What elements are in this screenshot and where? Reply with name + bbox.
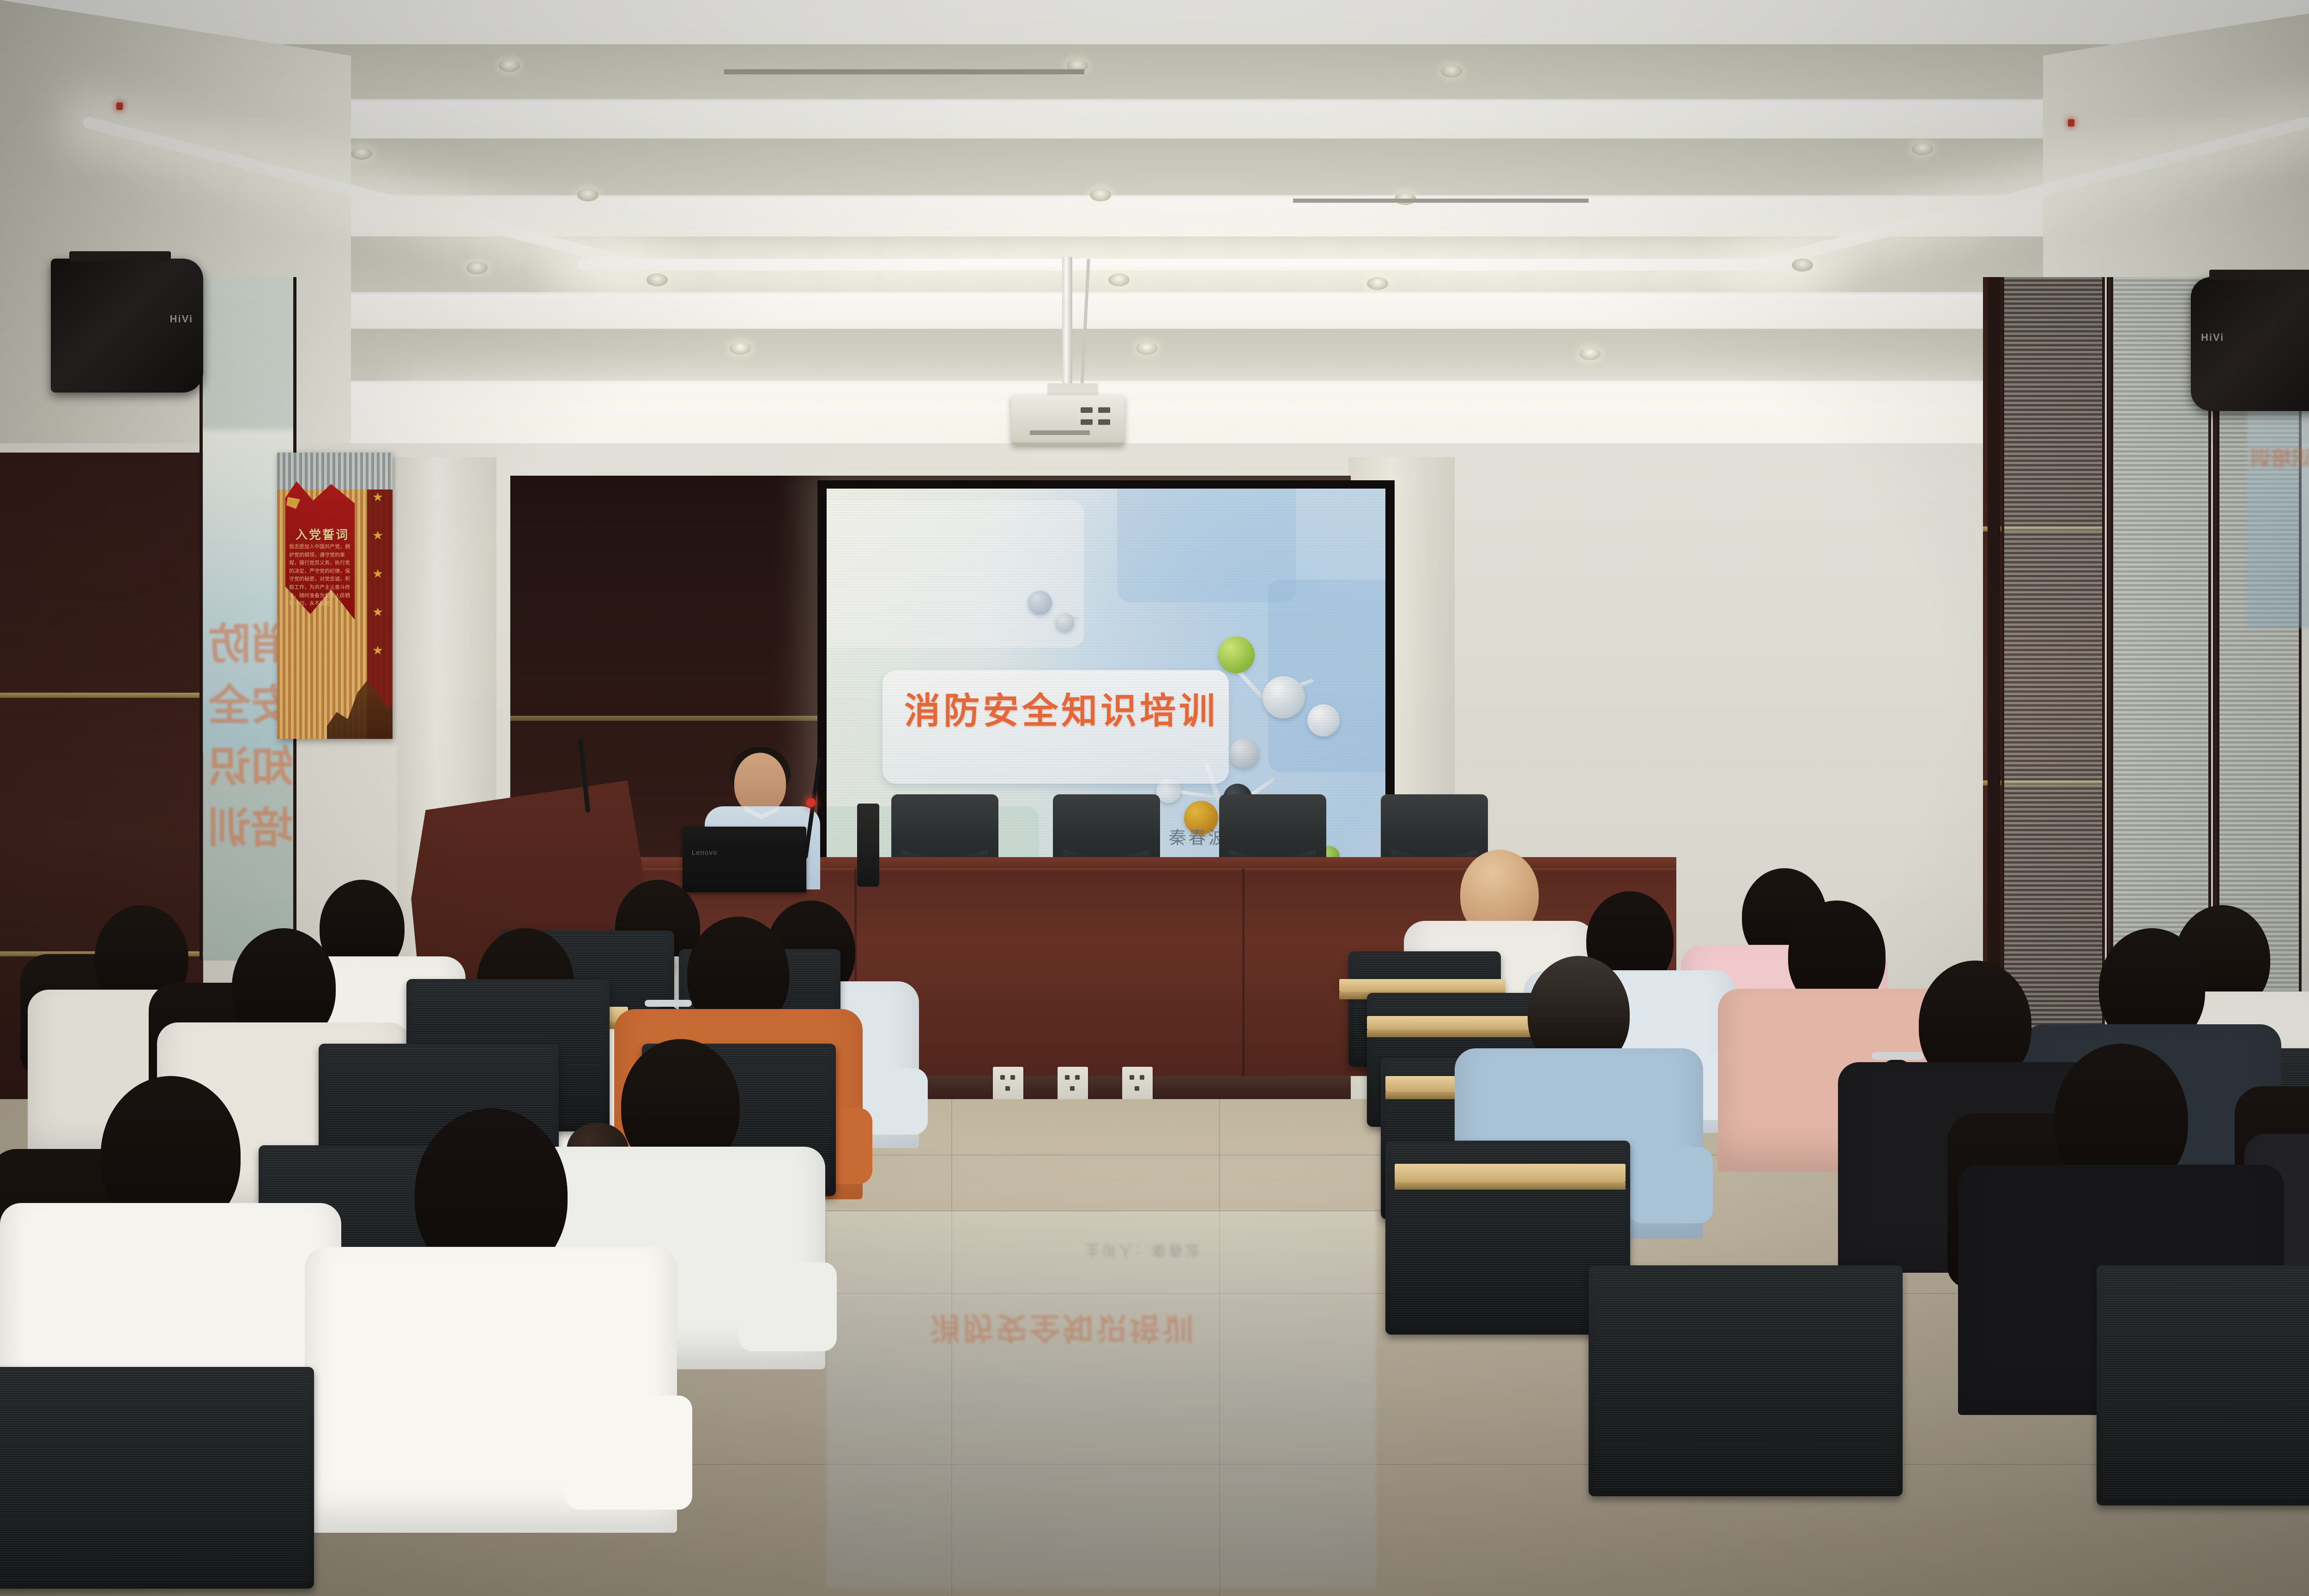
ceiling-projector bbox=[1011, 395, 1124, 445]
power-outlet[interactable] bbox=[993, 1067, 1023, 1101]
floor-reflected-title: 消防安全知识培训 bbox=[898, 1308, 1228, 1353]
smoke-detector-indicator-left bbox=[116, 103, 123, 110]
wall-speaker-left: HiVi bbox=[51, 259, 203, 393]
gold-stars bbox=[369, 492, 387, 691]
conference-room-photo: 消防安全知识培训 入党誓词 我志愿加入中国共产党，拥护党的纲领，遵守党的章程，履… bbox=[0, 0, 2309, 1596]
audience-left-3-arm bbox=[738, 1262, 837, 1351]
downlight-6 bbox=[1108, 273, 1130, 286]
reflected-slide-title: 消防安全知识培训 bbox=[2251, 441, 2309, 471]
poster-body-text: 我志愿加入中国共产党，拥护党的纲领，遵守党的章程，履行党员义务，执行党的决定，严… bbox=[289, 543, 355, 608]
downlight-15 bbox=[351, 147, 372, 160]
molecule-atom-2 bbox=[1263, 676, 1305, 719]
downlight-13 bbox=[1912, 142, 1933, 155]
audience-right-3-arm bbox=[1628, 1147, 1713, 1223]
ceiling bbox=[0, 0, 2309, 466]
microphone-indicator-light bbox=[806, 798, 816, 807]
hvac-diffuser-2 bbox=[1293, 199, 1589, 203]
downlight-4 bbox=[1090, 188, 1111, 201]
downlight-14 bbox=[1792, 259, 1813, 272]
network-jack[interactable] bbox=[1058, 1067, 1088, 1101]
speaker-brand-label-right: HiVi bbox=[2201, 332, 2224, 344]
smoke-detector-indicator-right bbox=[2068, 119, 2074, 127]
wall-speaker-right: HiVi bbox=[2191, 277, 2309, 411]
poster-title: 入党誓词 bbox=[296, 526, 356, 543]
cove-light-front bbox=[416, 406, 1977, 418]
molecule-atom-1 bbox=[1218, 636, 1255, 673]
downlight-1 bbox=[499, 59, 520, 72]
audience-right-6-hair-tie bbox=[1872, 1052, 1923, 1060]
av-jack[interactable] bbox=[1122, 1067, 1153, 1101]
desk-right-4[interactable] bbox=[1395, 1164, 1626, 1182]
hvac-diffuser-1 bbox=[724, 69, 1084, 74]
audience-left-2 bbox=[305, 1108, 677, 1567]
presenter-head bbox=[734, 753, 786, 814]
chair-left-1[interactable] bbox=[0, 1367, 314, 1589]
party-oath-poster: 入党誓词 我志愿加入中国共产党，拥护党的纲领，遵守党的章程，履行党员义务，执行党… bbox=[277, 453, 393, 739]
slide-title: 消防安全知识培训 bbox=[899, 693, 1223, 729]
downlight-16 bbox=[466, 261, 488, 274]
molecule-atom-18 bbox=[1028, 591, 1052, 615]
laptop-brand-label: Lenovo bbox=[692, 849, 717, 857]
downlight-9 bbox=[1441, 65, 1462, 78]
downlight-12 bbox=[1579, 347, 1601, 360]
water-bottle bbox=[857, 804, 879, 887]
chair-right-7[interactable] bbox=[2097, 1265, 2309, 1505]
chair-right-5[interactable] bbox=[1589, 1265, 1903, 1496]
molecule-atom-3 bbox=[1307, 704, 1340, 737]
downlight-7 bbox=[730, 342, 751, 355]
downlight-11 bbox=[1367, 277, 1388, 290]
projector-mount-pole bbox=[1062, 257, 1072, 404]
audience-left-2-arm bbox=[565, 1396, 692, 1510]
downlight-8 bbox=[1136, 342, 1157, 355]
ceiling-soffit-left bbox=[0, 0, 351, 466]
cove-light-back bbox=[577, 259, 1815, 271]
speaker-brand-label: HiVi bbox=[170, 313, 193, 325]
floor-reflection-of-slide: 消防安全知识培训 主讲人：秦春波 bbox=[827, 1210, 1376, 1589]
audience-left-4-hair-tie bbox=[645, 1000, 692, 1007]
molecule-atom-4 bbox=[1229, 738, 1259, 769]
downlight-3 bbox=[577, 188, 598, 201]
poster-header-stripe bbox=[277, 453, 393, 490]
downlight-5 bbox=[647, 273, 668, 286]
floor-reflected-presenter: 主讲人：秦春波 bbox=[1085, 1240, 1316, 1262]
